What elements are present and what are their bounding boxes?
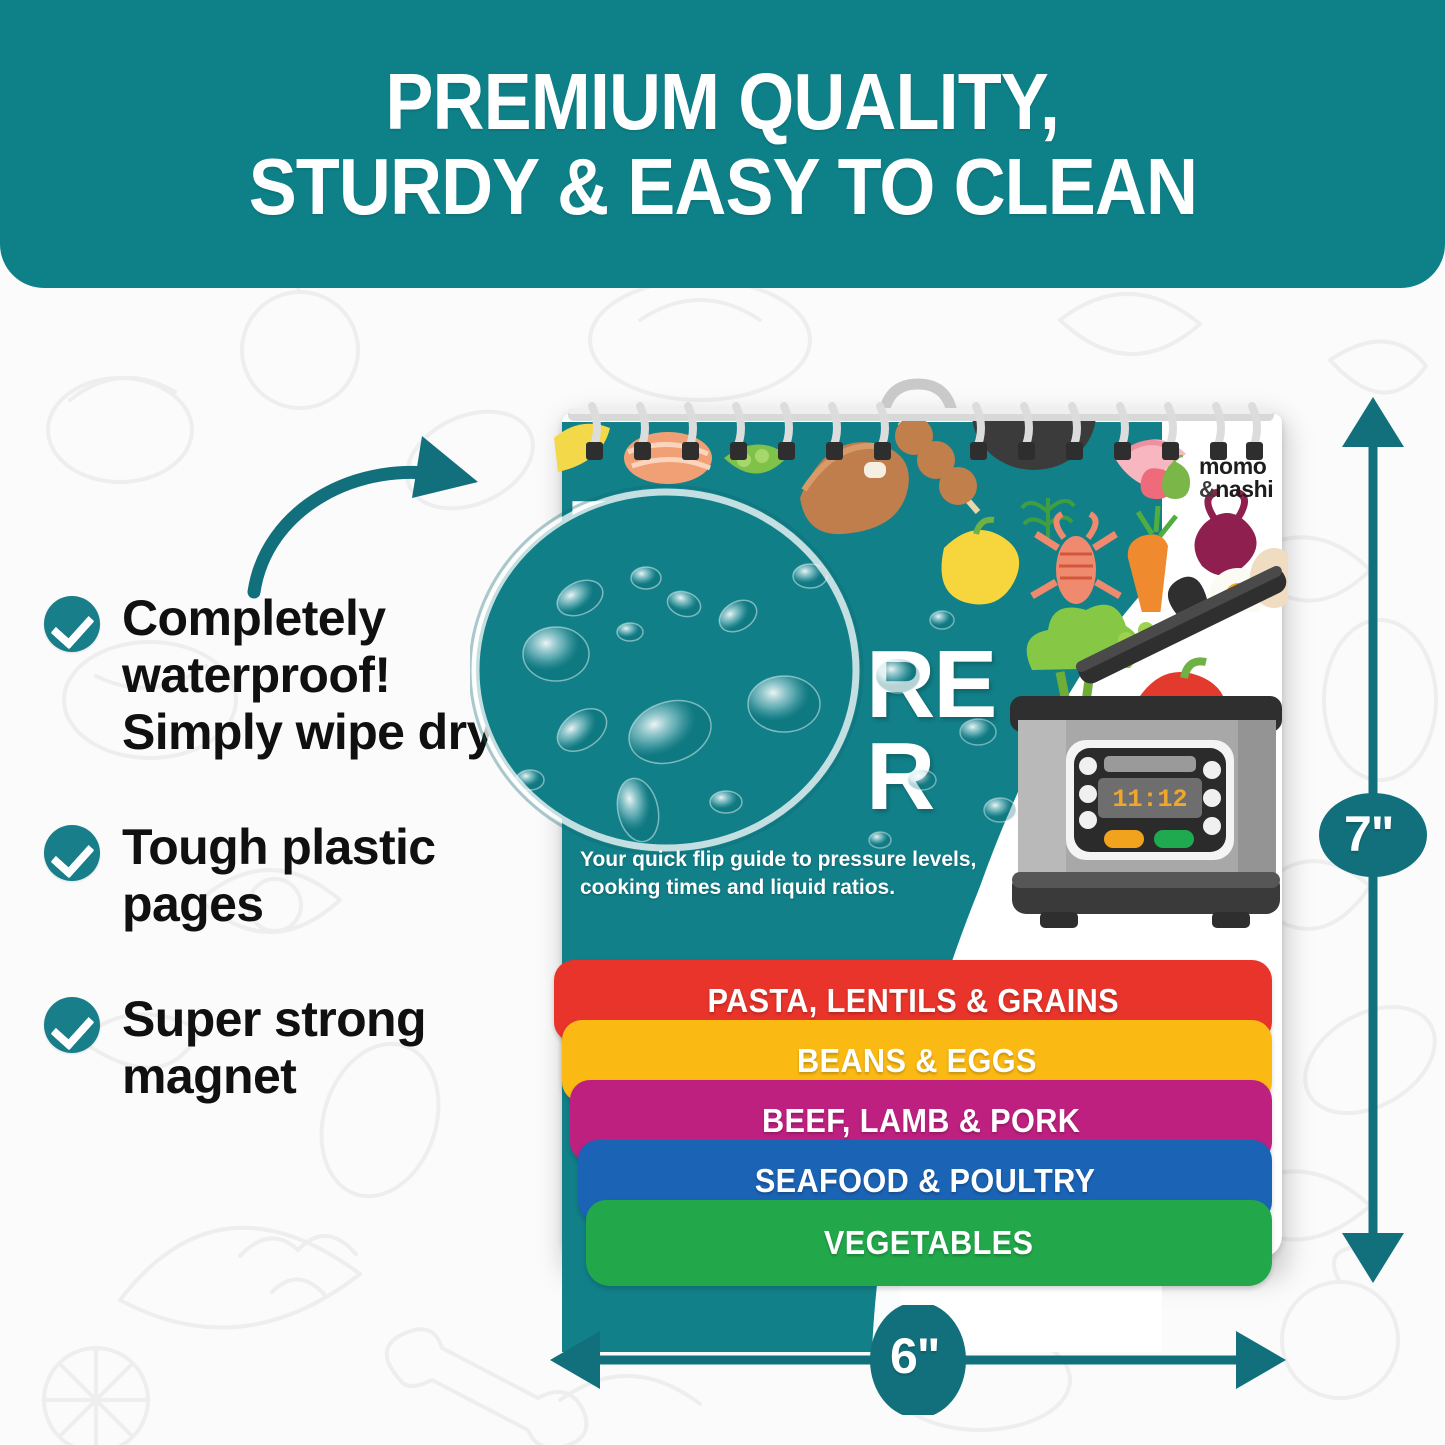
header-line-1: PREMIUM QUALITY, [386, 60, 1060, 145]
title-fragment-3: RE [866, 640, 995, 730]
check-circle-icon [44, 997, 100, 1053]
feature-item-magnet: Super strong magnet [44, 991, 496, 1105]
feature-label: Super strong magnet [122, 991, 496, 1105]
feature-label: Completely waterproof! Simply wipe dry [122, 590, 496, 761]
title-fragment-1: RE [566, 490, 695, 580]
tab-label: PASTA, LENTILS & GRAINS [707, 982, 1119, 1020]
spiral-binding [548, 376, 1290, 486]
dimension-width-label: 6" [890, 1327, 940, 1385]
tab-label: BEEF, LAMB & PORK [762, 1102, 1080, 1140]
feature-item-waterproof: Completely waterproof! Simply wipe dry [44, 590, 496, 761]
tab-label: BEANS & EGGS [797, 1042, 1037, 1080]
tab-vegetables[interactable]: VEGETABLES [586, 1200, 1272, 1286]
title-fragment-4: R [866, 732, 933, 822]
feature-label: Tough plastic pages [122, 819, 496, 933]
curved-arrow-icon [236, 424, 506, 614]
dimension-height-label: 7" [1344, 805, 1394, 863]
header-banner: PREMIUM QUALITY, STURDY & EASY TO CLEAN [0, 0, 1445, 288]
feature-item-tough-pages: Tough plastic pages [44, 819, 496, 933]
check-circle-icon [44, 596, 100, 652]
title-fragment-2: ER [536, 604, 665, 694]
feature-list: Completely waterproof! Simply wipe dry T… [44, 590, 496, 1163]
pressure-cooker-illustration: 11:12 [998, 520, 1298, 970]
tab-label: SEAFOOD & POULTRY [755, 1162, 1096, 1200]
tab-label: VEGETABLES [824, 1224, 1033, 1262]
category-tab-stack: PASTA, LENTILS & GRAINS BEANS & EGGS BEE… [548, 950, 1290, 1280]
check-circle-icon [44, 825, 100, 881]
cover-subtitle: Your quick flip guide to pressure levels… [580, 846, 1000, 901]
cooker-display-time: 11:12 [1112, 785, 1187, 814]
header-line-2: STURDY & EASY TO CLEAN [248, 145, 1196, 230]
